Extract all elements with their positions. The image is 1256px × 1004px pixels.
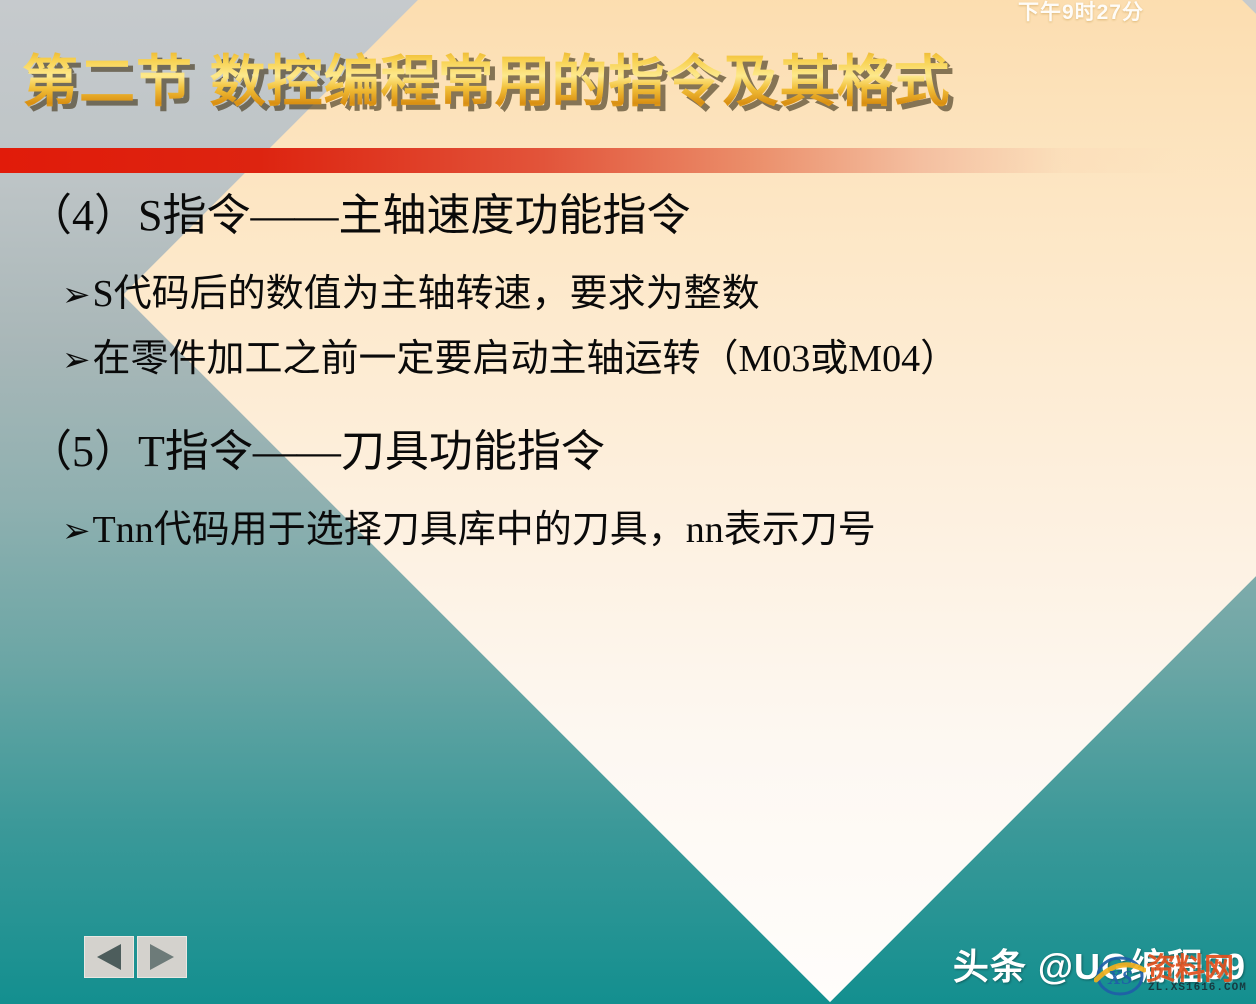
bullet-t-toolnumber: ➢Tnn代码用于选择刀具库中的刀具，nn表示刀号 bbox=[62, 501, 1256, 560]
spacer bbox=[0, 251, 1256, 265]
bullet-text: Tnn代码用于选择刀具库中的刀具，nn表示刀号 bbox=[93, 509, 876, 551]
spacer bbox=[0, 487, 1256, 501]
clock-timestamp: 下午9时27分 bbox=[1018, 0, 1144, 26]
heading-t-command: （5）T指令——刀具功能指令 bbox=[28, 421, 1256, 483]
slide-title-text: 第二节 数控编程常用的指令及其格式 bbox=[22, 44, 951, 120]
red-accent-band bbox=[0, 148, 1180, 173]
bullet-text: 在零件加工之前一定要启动主轴运转（M03或M04） bbox=[93, 338, 959, 380]
bullet-arrow-icon: ➢ bbox=[62, 340, 93, 380]
spacer bbox=[0, 395, 1256, 421]
bullet-s-value: ➢S代码后的数值为主轴转速，要求为整数 bbox=[62, 265, 1256, 324]
bullet-arrow-icon: ➢ bbox=[62, 511, 93, 551]
site-url: ZL.XS1616.COM bbox=[1148, 982, 1247, 994]
site-watermark: XS 资料网 ZL.XS1616.COM bbox=[1088, 938, 1256, 1004]
slide-navigation bbox=[84, 936, 187, 978]
svg-text:XS: XS bbox=[1107, 967, 1132, 989]
slide-title: 第二节 数控编程常用的指令及其格式 第二节 数控编程常用的指令及其格式 bbox=[22, 44, 1222, 124]
bullet-arrow-icon: ➢ bbox=[62, 275, 93, 315]
xs-logo-icon: XS bbox=[1094, 950, 1146, 998]
bullet-text: S代码后的数值为主轴转速，要求为整数 bbox=[93, 273, 760, 315]
arrow-right-icon bbox=[150, 944, 174, 970]
bullet-s-spindle-start: ➢在零件加工之前一定要启动主轴运转（M03或M04） bbox=[62, 330, 1256, 389]
arrow-left-icon bbox=[97, 944, 121, 970]
heading-s-command: （4）S指令——主轴速度功能指令 bbox=[28, 185, 1256, 247]
slide-body: （4）S指令——主轴速度功能指令 ➢S代码后的数值为主轴转速，要求为整数 ➢在零… bbox=[0, 185, 1256, 566]
previous-slide-button[interactable] bbox=[84, 936, 134, 978]
slide-canvas: 下午9时27分 第二节 数控编程常用的指令及其格式 第二节 数控编程常用的指令及… bbox=[0, 0, 1256, 1004]
next-slide-button[interactable] bbox=[137, 936, 187, 978]
